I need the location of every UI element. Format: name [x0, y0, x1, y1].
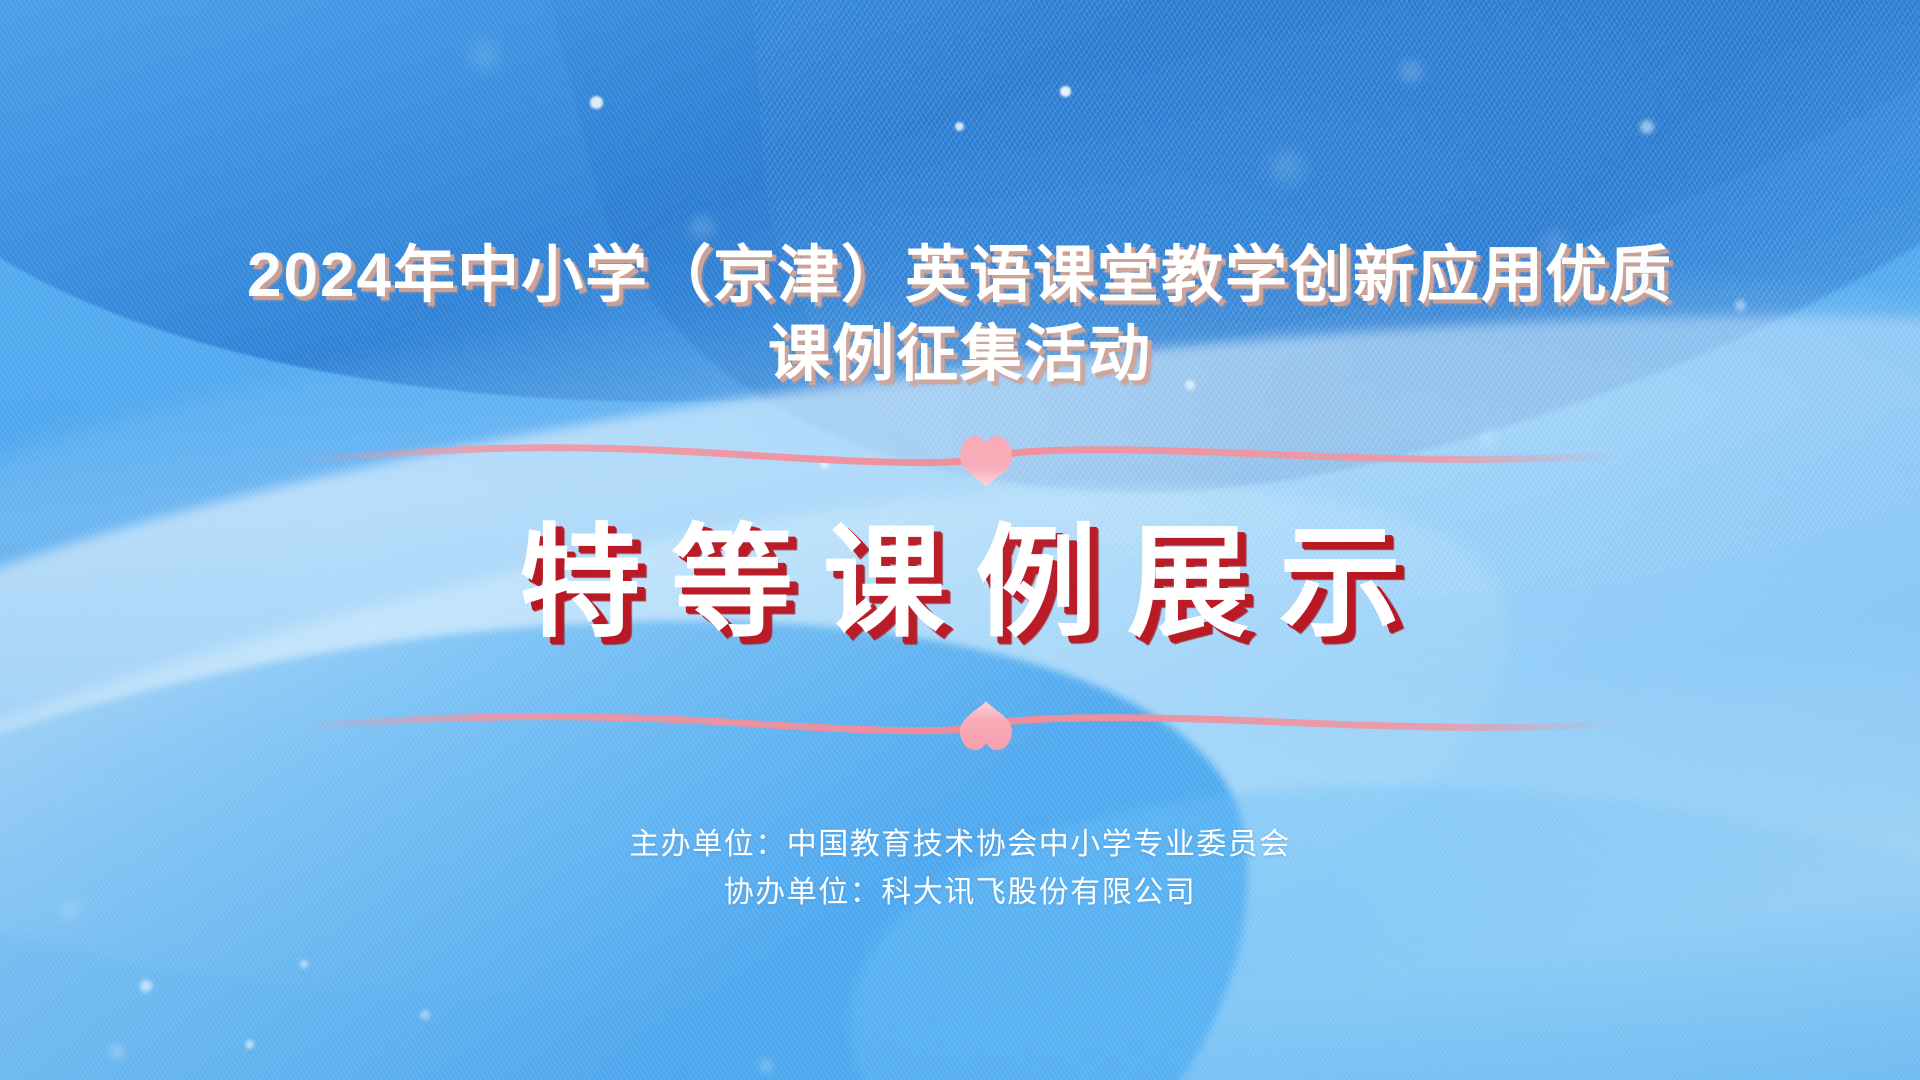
- event-title: 2024年中小学（京津）英语课堂教学创新应用优质 课例征集活动: [90, 236, 1830, 395]
- organizer-block: 主办单位：中国教育技术协会中小学专业委员会 协办单位：科大讯飞股份有限公司: [629, 821, 1291, 918]
- organizer-line-host: 主办单位：中国教育技术协会中小学专业委员会: [629, 821, 1291, 870]
- heart-icon: [960, 436, 1012, 487]
- organizer-line-coorganizer: 协办单位：科大讯飞股份有限公司: [629, 869, 1291, 918]
- poster-canvas: 2024年中小学（京津）英语课堂教学创新应用优质 课例征集活动: [0, 0, 1920, 1080]
- heart-icon-inverted: [960, 701, 1012, 750]
- divider-top: [300, 421, 1620, 485]
- divider-bottom: [300, 691, 1620, 755]
- headline: 特等课例展示: [489, 519, 1431, 647]
- poster-content: 2024年中小学（京津）英语课堂教学创新应用优质 课例征集活动: [0, 0, 1920, 1080]
